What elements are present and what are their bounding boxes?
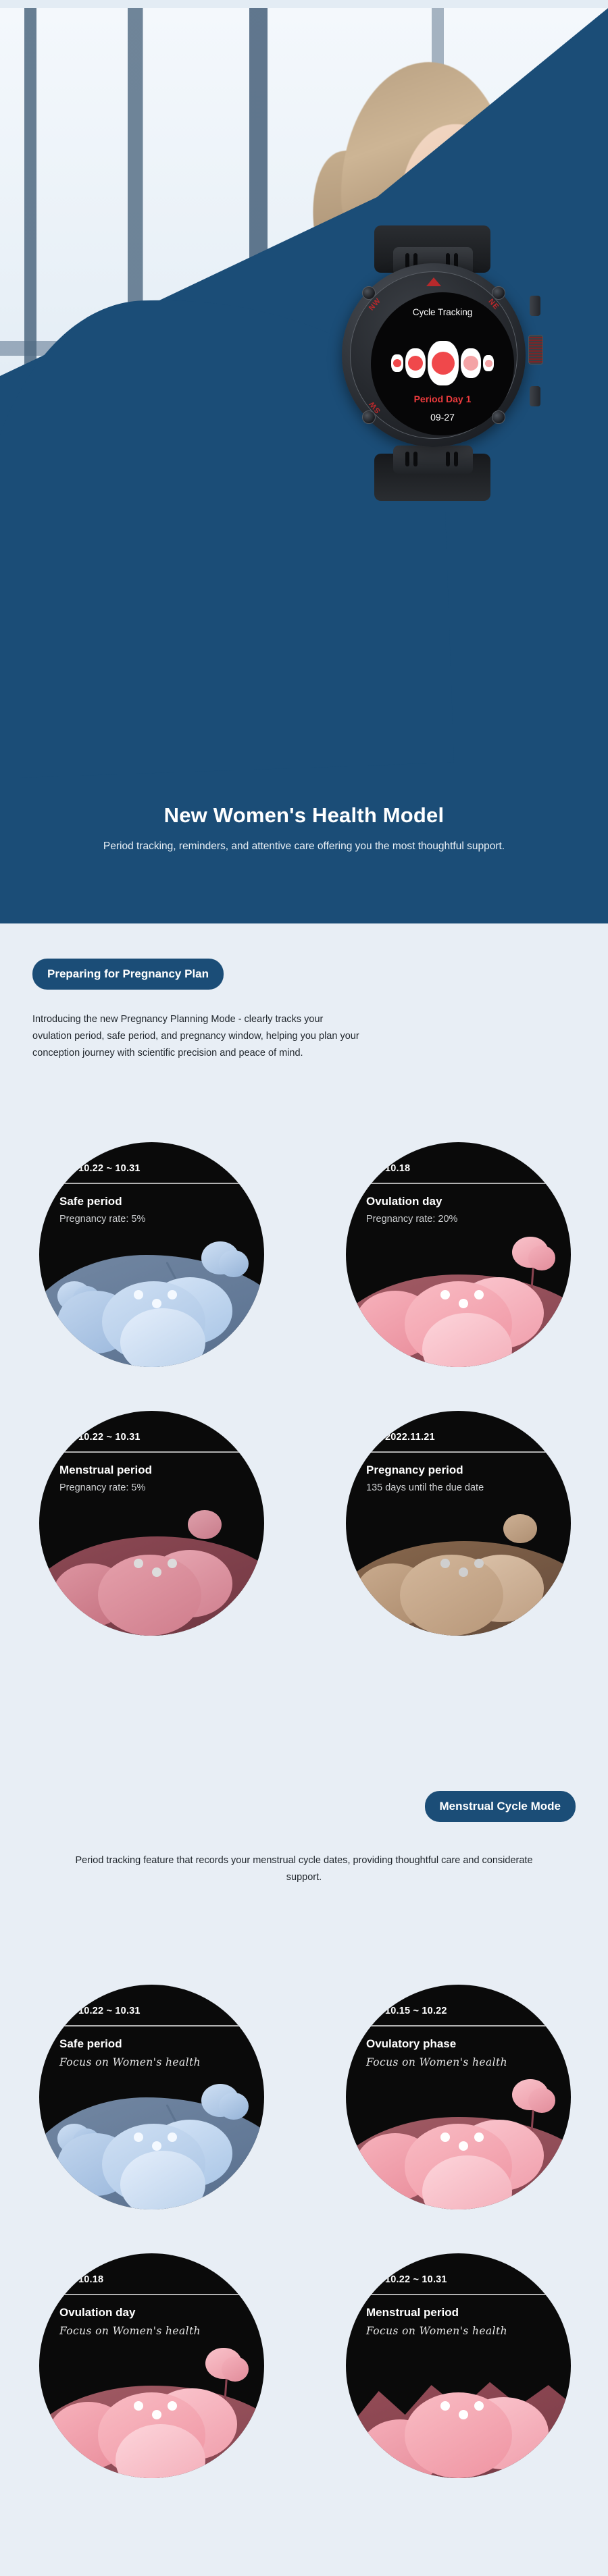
card-title: Menstrual period [59,1464,251,1477]
card-artwork-menstrual-period [39,1411,264,1636]
period-status: Period Day 1 [371,394,514,404]
cycle-icon [369,1162,380,1174]
watch-crown[interactable] [528,335,543,365]
watch-screw-bottom-left [362,410,376,424]
feature-card[interactable]: 2022.11.21 Pregnancy period 135 days unt… [346,1411,571,1636]
card-date: 2022.11.21 [385,1432,435,1443]
hero-banner: NW NE SW SE S E Cycle Tracking [0,8,608,923]
card-header: 10.15 ~ 10.22 [369,2005,553,2016]
section-copy-pregnancy-plan: Introducing the new Pregnancy Planning M… [32,1011,365,1062]
cycle-dot-5 [483,355,494,371]
watch-screw-top-right [492,286,505,300]
feature-card[interactable]: 10.22 ~ 10.31 Menstrual period Focus on … [346,2253,571,2478]
card-divider [366,1183,553,1184]
card-artwork-safe-period [39,1142,264,1367]
card-date: 10.22 ~ 10.31 [78,1432,141,1443]
card-date: 10.22 ~ 10.31 [78,2006,141,2016]
screen-title: Cycle Tracking [371,307,514,317]
card-tagline: Focus on Women's health [366,2056,557,2068]
card-date: 10.18 [78,2274,103,2285]
card-subtitle: Pregnancy rate: 5% [59,1482,251,1493]
card-divider [59,2025,247,2027]
feature-card[interactable]: 10.18 Ovulation day Pregnancy rate: 20% [346,1142,571,1367]
card-date: 10.22 ~ 10.31 [385,2274,447,2285]
card-header: 10.22 ~ 10.31 [62,1431,247,1443]
section-copy-menstrual-cycle-mode: Period tracking feature that records you… [0,1852,608,1886]
card-artwork-ovulation-day [346,1142,571,1367]
watch-side-button-upper[interactable] [530,296,540,316]
card-subtitle: Pregnancy rate: 20% [366,1214,557,1225]
feature-card[interactable]: 10.18 Ovulation day Focus on Women's hea… [39,2253,264,2478]
smartwatch-hero: NW NE SW SE S E Cycle Tracking [332,251,535,474]
screen-date-nav: ‹ 09-27 › [386,411,499,423]
card-tagline: Focus on Women's health [59,2056,251,2068]
card-divider [59,2294,247,2295]
card-title: Menstrual period [366,2306,557,2319]
card-title: Ovulation day [366,1195,557,1208]
section-pill-label: Preparing for Pregnancy Plan [32,959,224,990]
cycle-dot-current [428,341,459,385]
watch-screw-bottom-right [492,410,505,424]
card-divider [59,1183,247,1184]
cycle-icon [62,2274,74,2285]
hero-subtitle: Period tracking, reminders, and attentiv… [95,838,513,855]
card-title: Safe period [59,2037,251,2051]
card-divider [366,2025,553,2027]
cycle-dot-2 [405,348,426,378]
card-artwork-ovulatory-phase [346,1985,571,2209]
card-tagline: Focus on Women's health [366,2325,557,2337]
card-artwork-menstrual-period [346,2253,571,2478]
feature-card[interactable]: 10.22 ~ 10.31 Safe period Pregnancy rate… [39,1142,264,1367]
cycle-dot-row [371,341,514,385]
section-pill-label: Menstrual Cycle Mode [425,1791,576,1822]
cycle-dot-4 [461,348,481,378]
screen-date: 09-27 [430,412,455,423]
card-header: 10.22 ~ 10.31 [62,1162,247,1174]
watch-lug-bottom [393,446,473,474]
card-date: 10.15 ~ 10.22 [385,2006,447,2016]
card-artwork-safe-period [39,1985,264,2209]
cycle-icon [369,2274,380,2285]
card-title: Safe period [59,1195,251,1208]
hero-title: New Women's Health Model [41,803,567,828]
card-divider [366,2294,553,2295]
card-date: 10.18 [385,1163,410,1174]
bezel-triangle-icon [426,277,441,286]
card-subtitle: 135 days until the due date [366,1482,557,1493]
card-header: 10.18 [369,1162,553,1174]
product-page: NW NE SW SE S E Cycle Tracking [0,0,608,2576]
card-title: Ovulation day [59,2306,251,2319]
card-artwork-pregnancy-period [346,1411,571,1636]
top-band [0,0,608,8]
hero-text-block: New Women's Health Model Period tracking… [0,803,608,855]
card-divider [366,1451,553,1453]
watch-side-button-lower[interactable] [530,386,540,406]
cycle-icon [369,1431,380,1443]
card-tagline: Focus on Women's health [59,2325,251,2337]
card-title: Pregnancy period [366,1464,557,1477]
card-artwork-ovulation-day [39,2253,264,2478]
card-subtitle: Pregnancy rate: 5% [59,1214,251,1225]
card-title: Ovulatory phase [366,2037,557,2051]
feature-card[interactable]: 10.15 ~ 10.22 Ovulatory phase Focus on W… [346,1985,571,2209]
watch-screw-top-left [362,286,376,300]
section-pill-menstrual-cycle-mode[interactable]: Menstrual Cycle Mode [425,1791,576,1822]
card-date: 10.22 ~ 10.31 [78,1163,141,1174]
cycle-icon [62,1431,74,1443]
feature-card[interactable]: 10.22 ~ 10.31 Menstrual period Pregnancy… [39,1411,264,1636]
card-header: 2022.11.21 [369,1431,553,1443]
card-header: 10.18 [62,2274,247,2285]
cycle-dot-1 [391,354,403,372]
cycle-icon [369,2005,380,2016]
card-divider [59,1451,247,1453]
cycle-icon [62,2005,74,2016]
card-header: 10.22 ~ 10.31 [369,2274,553,2285]
cycle-icon [62,1162,74,1174]
feature-card[interactable]: 10.22 ~ 10.31 Safe period Focus on Women… [39,1985,264,2209]
card-header: 10.22 ~ 10.31 [62,2005,247,2016]
prev-day-arrow-icon[interactable]: ‹ [386,411,390,423]
section-pill-pregnancy-plan[interactable]: Preparing for Pregnancy Plan [32,959,224,990]
watch-case: NW NE SW SE S E Cycle Tracking [342,263,526,447]
